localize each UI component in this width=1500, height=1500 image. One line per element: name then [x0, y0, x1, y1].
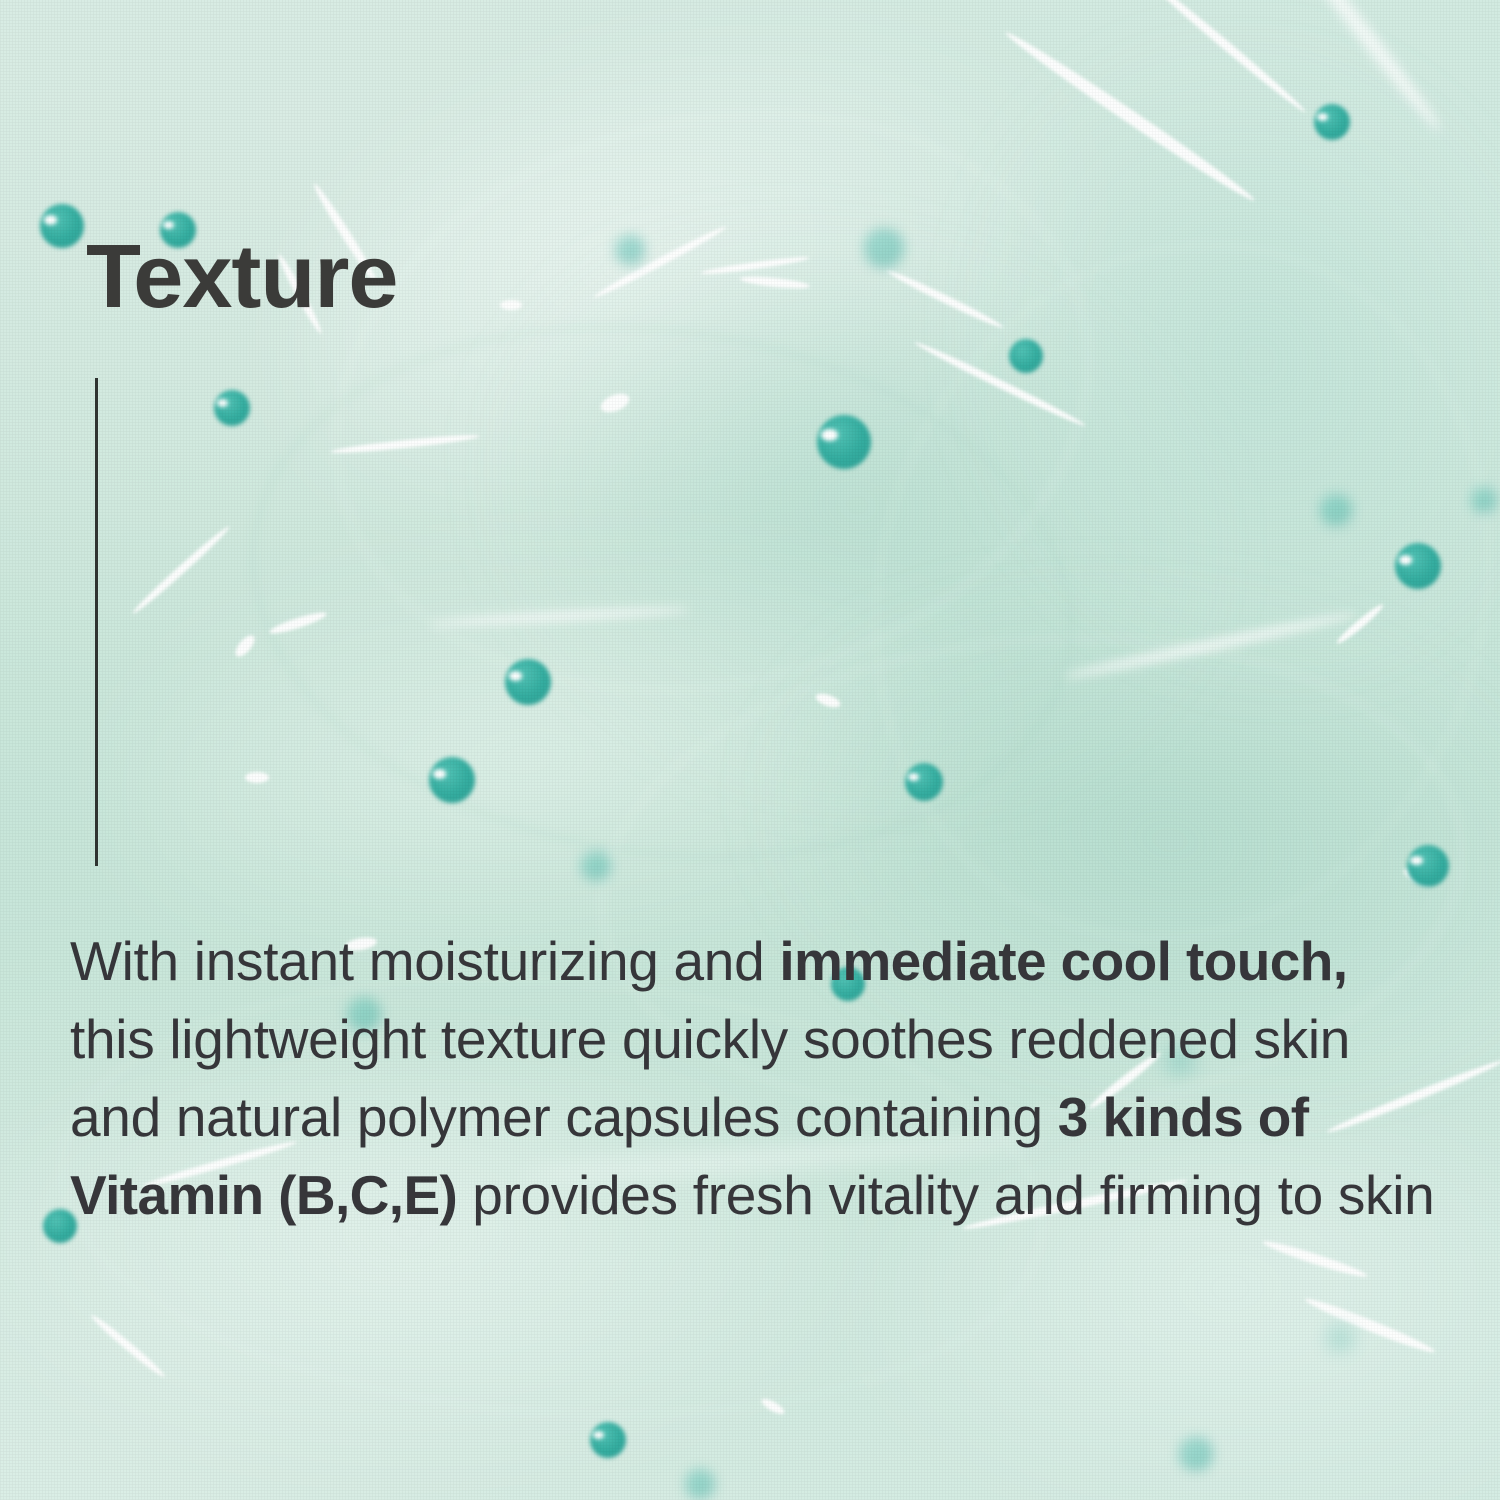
page-title: Texture — [86, 232, 397, 322]
body-description: With instant moisturizing and immediate … — [70, 922, 1460, 1234]
body-text-run: With instant moisturizing and — [70, 930, 779, 992]
body-text-run: and natural polymer capsules containing — [70, 1086, 1058, 1148]
texture-swatch-graphic: Texture With instant moisturizing and im… — [0, 0, 1500, 1500]
body-text-run: provides fresh vitality and firming to s… — [457, 1164, 1434, 1226]
body-text-run: this lightweight texture quickly soothes… — [70, 1008, 1350, 1070]
body-text-emphasis: immediate cool touch, — [779, 930, 1347, 992]
overlay-content: Texture With instant moisturizing and im… — [0, 0, 1500, 1500]
vertical-divider — [95, 378, 98, 866]
body-text-emphasis: 3 kinds of — [1058, 1086, 1309, 1148]
body-line: With instant moisturizing and immediate … — [70, 922, 1460, 1000]
body-text-emphasis: Vitamin (B,C,E) — [70, 1164, 457, 1226]
body-line: Vitamin (B,C,E) provides fresh vitality … — [70, 1156, 1460, 1234]
body-line: and natural polymer capsules containing … — [70, 1078, 1460, 1156]
body-line: this lightweight texture quickly soothes… — [70, 1000, 1460, 1078]
